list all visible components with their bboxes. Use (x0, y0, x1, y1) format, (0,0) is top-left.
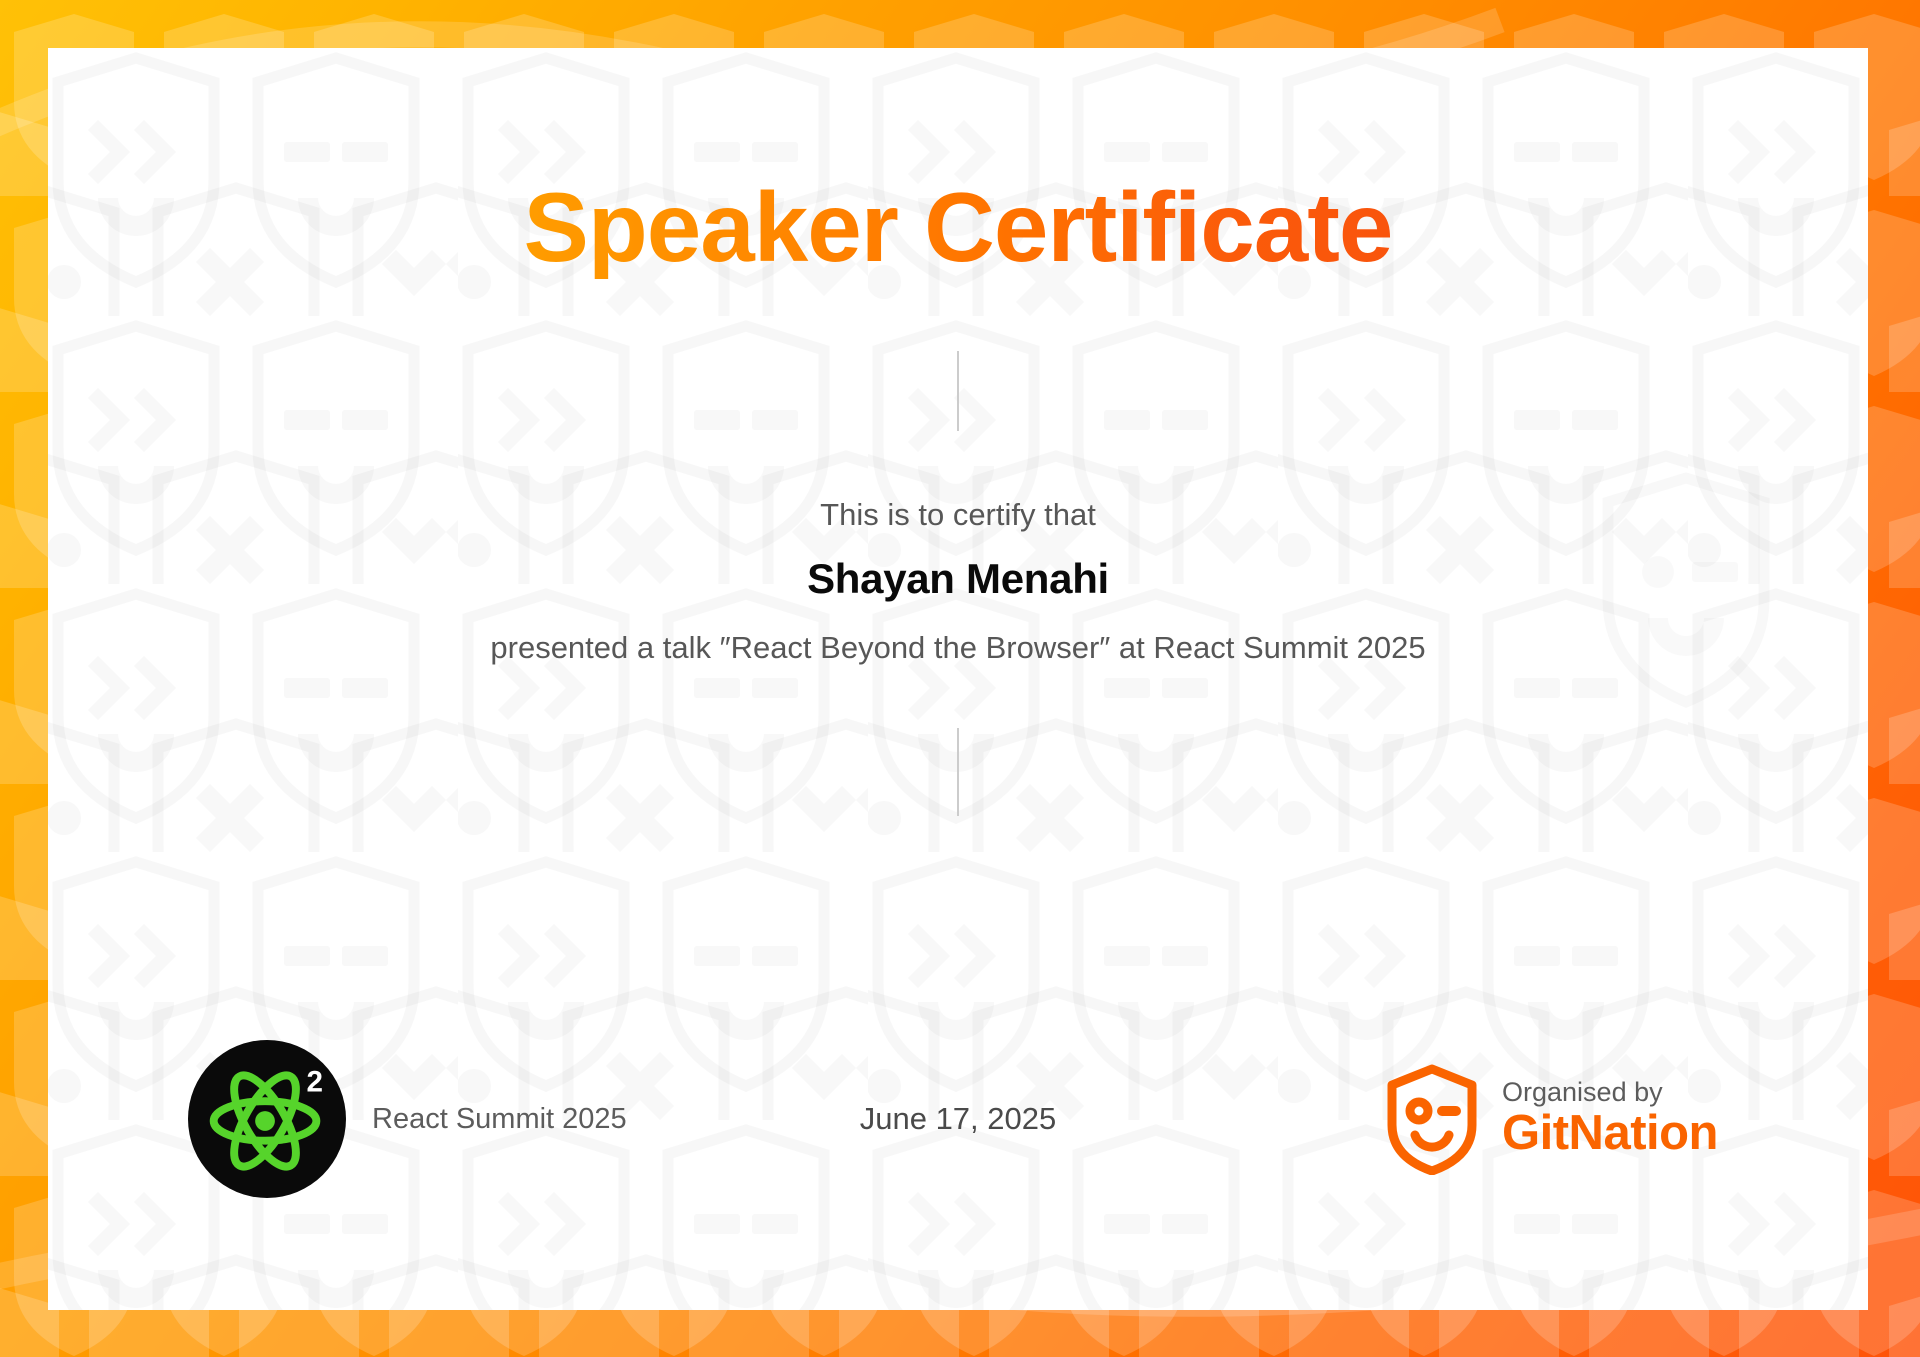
gitnation-shield-face-icon (1384, 1063, 1480, 1175)
organiser-text: Organised by GitNation (1502, 1078, 1718, 1160)
organiser-name: GitNation (1502, 1108, 1718, 1159)
organised-by-label: Organised by (1502, 1078, 1718, 1106)
issue-date: June 17, 2025 (860, 1101, 1057, 1136)
divider-bottom (957, 728, 959, 816)
event-logo-superscript: 2 (307, 1065, 323, 1098)
certificate-card: Speaker Certificate This is to certify t… (48, 48, 1868, 1310)
certify-statement: This is to certify that (820, 431, 1096, 533)
organiser-identity: Organised by GitNation (1384, 1063, 1718, 1175)
recipient-name: Shayan Menahi (807, 533, 1109, 603)
page-title: Speaker Certificate (524, 48, 1393, 279)
talk-statement: presented a talk ″React Beyond the Brows… (490, 603, 1425, 666)
certificate-footer: 2 React Summit 2025 June 17, 2025 Organi… (48, 1044, 1868, 1194)
certificate-page: Speaker Certificate This is to certify t… (0, 0, 1920, 1357)
divider-top (957, 351, 959, 431)
